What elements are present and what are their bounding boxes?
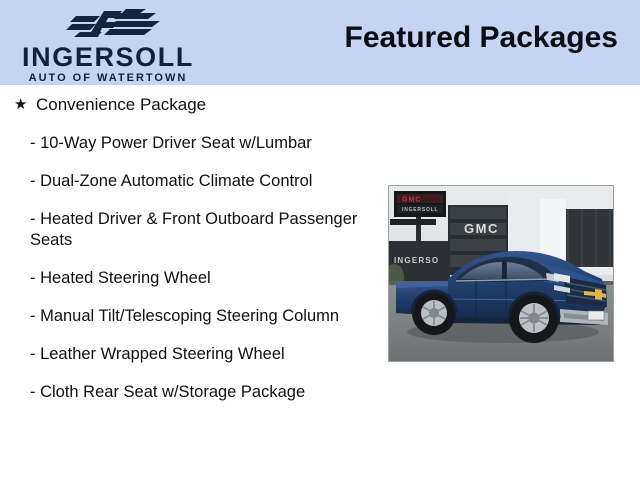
list-item: - Manual Tilt/Telescoping Steering Colum…	[30, 306, 360, 327]
package-heading: ★ Convenience Package	[8, 94, 378, 116]
list-item: - 10-Way Power Driver Seat w/Lumbar	[30, 133, 360, 154]
list-item: - Heated Driver & Front Outboard Passeng…	[30, 209, 360, 251]
brand-subwordmark: AUTO OF WATERTOWN	[8, 72, 208, 84]
content-area: ★ Convenience Package - 10-Way Power Dri…	[0, 85, 640, 480]
brand-wordmark: INGERSOLL	[8, 44, 208, 71]
ingersoll-winged-emblem-icon	[60, 6, 170, 44]
header-band: INGERSOLL AUTO OF WATERTOWN Featured Pac…	[0, 0, 640, 85]
page-title: Featured Packages	[345, 21, 618, 55]
list-item: - Cloth Rear Seat w/Storage Package	[30, 382, 360, 403]
star-bullet-icon: ★	[14, 94, 27, 116]
list-item: - Leather Wrapped Steering Wheel	[30, 344, 360, 365]
svg-text:INGERSOLL: INGERSOLL	[402, 207, 438, 213]
svg-text:INGERSO: INGERSO	[394, 256, 439, 265]
featured-packages-page: INGERSOLL AUTO OF WATERTOWN Featured Pac…	[0, 0, 640, 480]
list-item: - Dual-Zone Automatic Climate Control	[30, 171, 360, 192]
svg-text:GMC: GMC	[402, 197, 421, 204]
dealer-brand-logo[interactable]: INGERSOLL AUTO OF WATERTOWN	[8, 4, 208, 84]
list-item: - Heated Steering Wheel	[30, 268, 360, 289]
package-list: ★ Convenience Package - 10-Way Power Dri…	[0, 85, 378, 403]
svg-text:GMC: GMC	[464, 221, 499, 236]
vehicle-photo[interactable]: GMC GMC INGERSOLL INGERSO	[388, 185, 614, 362]
package-name: Convenience Package	[36, 95, 206, 114]
